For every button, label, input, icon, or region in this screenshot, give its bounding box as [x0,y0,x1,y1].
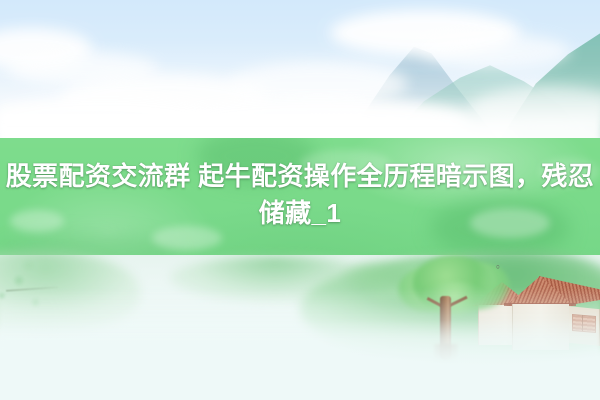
cloud-icon [420,34,570,68]
banner-title-line-2: 储藏_1 [0,195,600,232]
banner-title-line-1: 股票配资交流群 起牛配资操作全历程暗示图，残忍 [6,161,594,191]
bird-icon: ᭐ [496,264,505,269]
banner-title: 股票配资交流群 起牛配资操作全历程暗示图，残忍 储藏_1 [0,158,600,232]
bottom-fade [0,320,600,400]
banner-image: 股票配资交流群 起牛配资操作全历程暗示图，残忍 储藏_1 ᭐ [0,0,600,400]
